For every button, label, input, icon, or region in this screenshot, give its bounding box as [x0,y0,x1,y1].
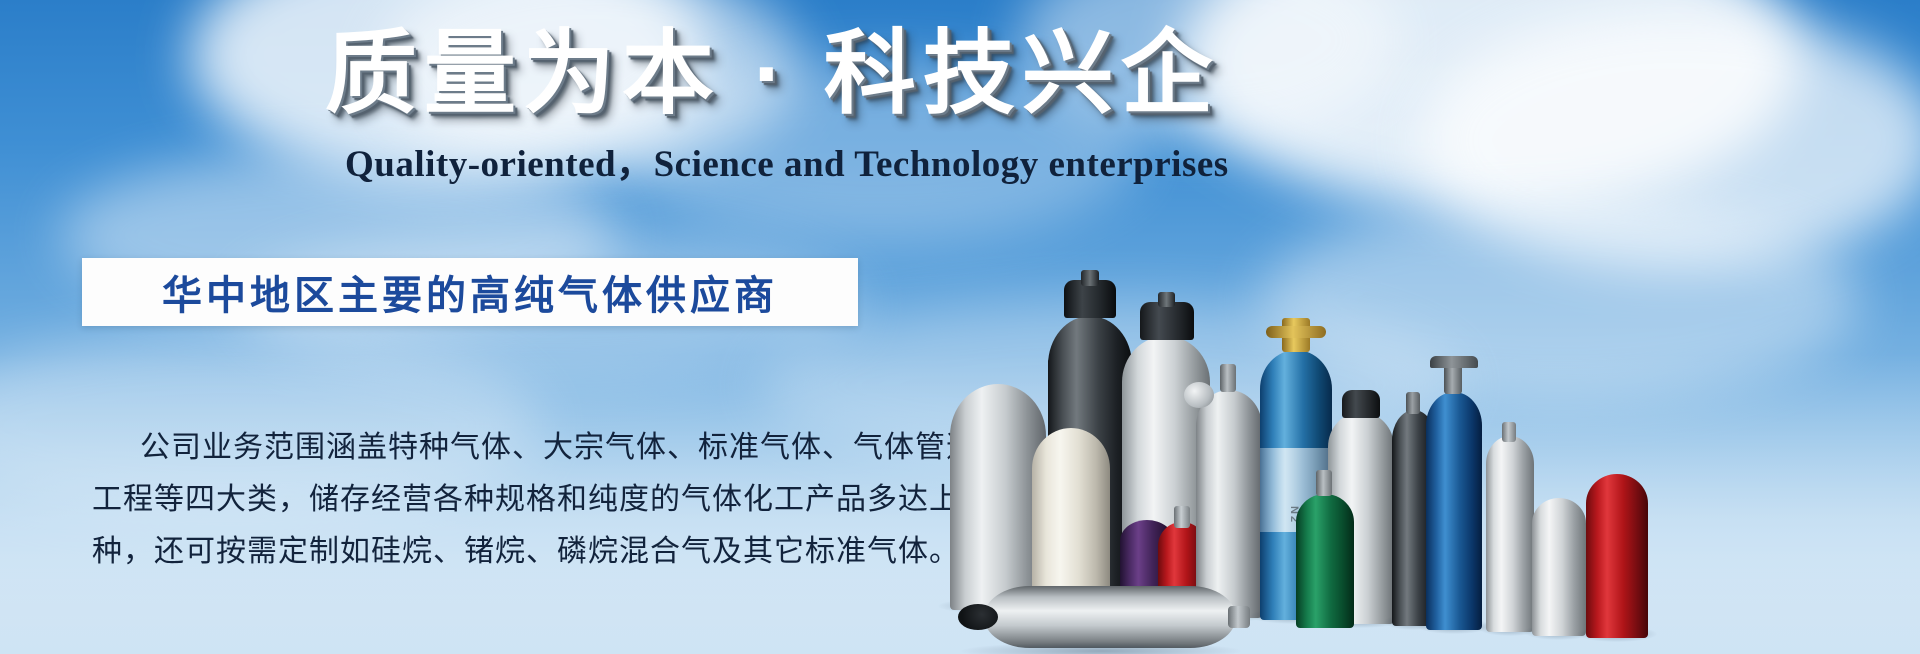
cylinder-aluminium-short [1532,498,1586,636]
callout-text: 华中地区主要的高纯气体供应商 [162,263,778,321]
page-title: 质量为本 · 科技兴企 [325,22,1220,128]
cylinder-grey-horizontal-tank [958,586,1244,652]
description-paragraph: 公司业务范围涵盖特种气体、大宗气体、标准气体、气体管道 工程等四大类，储存经营各… [92,422,882,578]
promo-banner: 质量为本 · 科技兴企 Quality-oriented，Science and… [0,0,1920,654]
cylinder-blue-slim [1426,390,1482,630]
paragraph-line: 公司业务范围涵盖特种气体、大宗气体、标准气体、气体管道 [92,422,882,474]
callout-box: 华中地区主要的高纯气体供应商 [82,258,858,326]
paragraph-line: 工程等四大类，储存经营各种规格和纯度的气体化工产品多达上百 [92,474,882,526]
cylinder-red-short-right [1586,474,1648,638]
gas-cylinder-group: N2 [940,150,1660,654]
cylinder-green-small [1296,486,1354,628]
paragraph-line: 种，还可按需定制如硅烷、锗烷、磷烷混合气及其它标准气体。 [92,526,882,578]
cylinder-grey-medium-valve [1196,388,1262,618]
cylinder-aluminium-slim [1486,436,1534,632]
